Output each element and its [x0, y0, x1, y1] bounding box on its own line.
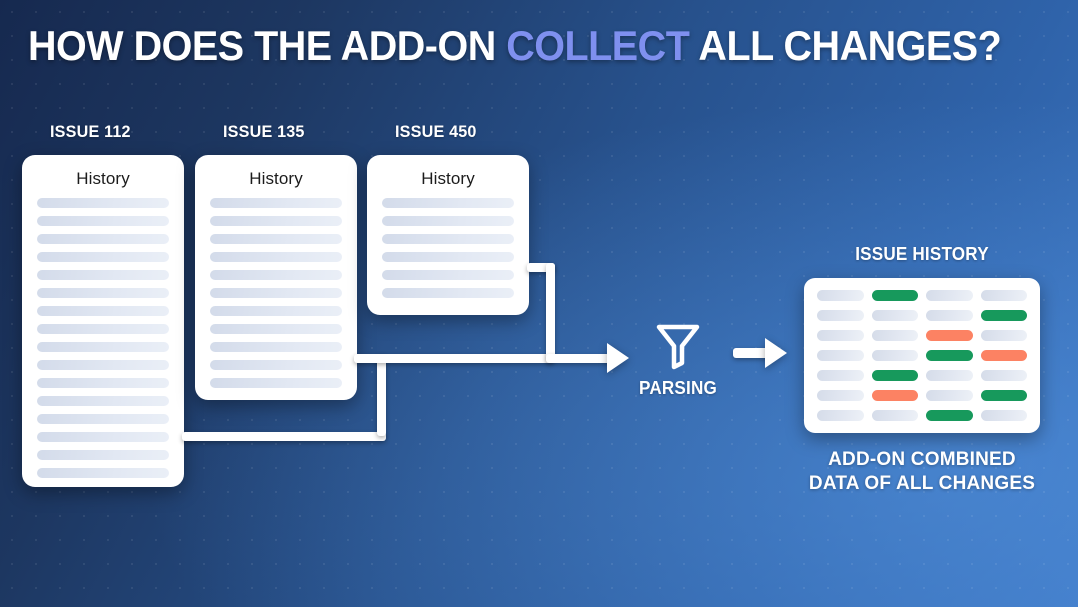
issue-card-row — [382, 216, 514, 226]
history-cell-green — [981, 390, 1028, 401]
history-cell-green — [926, 350, 973, 361]
history-cell-orange — [981, 350, 1028, 361]
connector-issue135-horizontal — [354, 354, 554, 363]
issue-card-row — [210, 378, 342, 388]
issue-card-rows-1 — [210, 198, 342, 388]
connector-issue112-vertical — [377, 354, 386, 436]
issue-card-row — [37, 324, 169, 334]
history-row — [817, 390, 1027, 401]
history-table[interactable] — [804, 278, 1040, 433]
history-cell-gray — [926, 390, 973, 401]
history-caption-line1: ADD-ON COMBINED — [828, 449, 1016, 470]
issue-card-row — [210, 198, 342, 208]
issue-card-135[interactable]: History — [195, 155, 357, 400]
history-cell-green — [926, 410, 973, 421]
arrow-right-icon-to-history — [765, 338, 787, 368]
issue-card-row — [382, 252, 514, 262]
issue-card-row — [37, 234, 169, 244]
issue-card-heading-2: History — [382, 169, 514, 189]
history-cell-gray — [817, 310, 864, 321]
parsing-label: PARSING — [634, 378, 721, 399]
issue-card-row — [210, 270, 342, 280]
arrow-right-icon-to-parsing — [607, 343, 629, 373]
history-cell-gray — [872, 350, 919, 361]
history-row — [817, 370, 1027, 381]
issue-card-row — [37, 342, 169, 352]
issue-card-row — [382, 270, 514, 280]
issue-card-row — [37, 360, 169, 370]
issue-card-label-2: ISSUE 450 — [395, 122, 477, 142]
issue-card-112[interactable]: History — [22, 155, 184, 487]
issue-card-row — [37, 432, 169, 442]
issue-card-rows-0 — [37, 198, 169, 478]
issue-card-row — [37, 288, 169, 298]
issue-card-row — [210, 252, 342, 262]
issue-card-heading-0: History — [37, 169, 169, 189]
history-row — [817, 310, 1027, 321]
history-cell-orange — [872, 390, 919, 401]
connector-issue450-vertical — [546, 263, 555, 359]
history-title: ISSUE HISTORY — [810, 244, 1034, 265]
funnel-icon — [655, 322, 701, 370]
connector-issue112-horizontal — [182, 432, 386, 441]
title-text-after: ALL CHANGES? — [689, 22, 1001, 69]
issue-card-row — [382, 198, 514, 208]
issue-card-row — [37, 468, 169, 478]
page-title: HOW DOES THE ADD-ON COLLECT ALL CHANGES? — [28, 22, 1001, 70]
issue-card-row — [210, 360, 342, 370]
history-cell-gray — [981, 410, 1028, 421]
issue-card-row — [37, 414, 169, 424]
issue-card-row — [37, 378, 169, 388]
issue-card-row — [210, 306, 342, 316]
history-cell-gray — [926, 310, 973, 321]
issue-card-row — [37, 396, 169, 406]
history-cell-gray — [817, 410, 864, 421]
issue-card-row — [37, 270, 169, 280]
issue-card-row — [210, 234, 342, 244]
history-cell-green — [981, 310, 1028, 321]
history-row — [817, 410, 1027, 421]
history-row — [817, 290, 1027, 301]
issue-card-label-0: ISSUE 112 — [50, 122, 131, 142]
issue-card-row — [37, 198, 169, 208]
issue-card-row — [382, 288, 514, 298]
history-cell-gray — [817, 350, 864, 361]
history-cell-green — [872, 290, 919, 301]
issue-card-heading-1: History — [210, 169, 342, 189]
issue-card-row — [37, 216, 169, 226]
history-row — [817, 350, 1027, 361]
history-cell-gray — [981, 370, 1028, 381]
history-cell-gray — [926, 370, 973, 381]
connector-merged-trunk — [546, 354, 614, 363]
history-cell-gray — [872, 330, 919, 341]
issue-card-row — [37, 306, 169, 316]
history-caption: ADD-ON COMBINED DATA OF ALL CHANGES — [784, 448, 1060, 496]
history-cell-gray — [981, 330, 1028, 341]
issue-card-row — [210, 216, 342, 226]
history-row — [817, 330, 1027, 341]
issue-card-450[interactable]: History — [367, 155, 529, 315]
history-cell-gray — [981, 290, 1028, 301]
issue-card-row — [382, 234, 514, 244]
issue-card-row — [37, 450, 169, 460]
history-cell-gray — [817, 370, 864, 381]
history-cell-gray — [872, 310, 919, 321]
title-text-highlight: COLLECT — [506, 22, 689, 69]
history-cell-gray — [817, 390, 864, 401]
issue-card-row — [37, 252, 169, 262]
history-cell-orange — [926, 330, 973, 341]
issue-card-row — [210, 324, 342, 334]
history-cell-gray — [872, 410, 919, 421]
history-cell-gray — [926, 290, 973, 301]
title-text-before: HOW DOES THE ADD-ON — [28, 22, 506, 69]
issue-card-row — [210, 342, 342, 352]
history-caption-line2: DATA OF ALL CHANGES — [809, 473, 1035, 494]
issue-card-label-1: ISSUE 135 — [223, 122, 305, 142]
history-cell-gray — [817, 330, 864, 341]
issue-card-row — [210, 288, 342, 298]
history-cell-gray — [817, 290, 864, 301]
issue-card-rows-2 — [382, 198, 514, 298]
history-cell-green — [872, 370, 919, 381]
